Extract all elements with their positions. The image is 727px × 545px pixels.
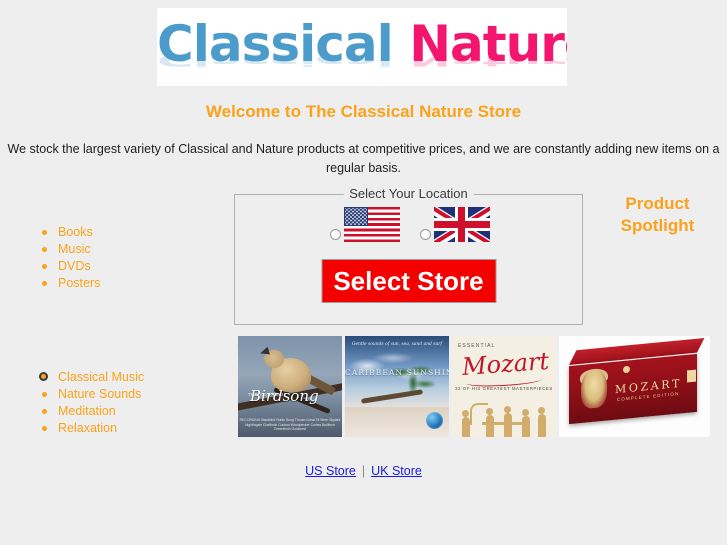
sidebar-item-label: Meditation xyxy=(58,404,116,418)
figure-head-silhouette xyxy=(486,408,493,415)
sidebar-item-label: Books xyxy=(58,225,93,239)
sidebar-genre-list: Classical Music Nature Sounds Meditation… xyxy=(36,369,211,437)
essential-mozart-caption: 32 OF HIS GREATEST MASTERPIECES xyxy=(452,386,556,391)
us-store-link[interactable]: US Store xyxy=(305,464,356,478)
select-location-fieldset: Select Your Location Select Store xyxy=(234,194,583,325)
site-logo-banner: Classical Nature Classical Nature xyxy=(157,8,567,86)
sidebar-item-relaxation[interactable]: Relaxation xyxy=(36,420,211,437)
sidebar-item-label: Music xyxy=(58,242,91,256)
bullet-icon xyxy=(42,230,47,235)
product-spotlight-strip: THE SOUND OF Birdsong RECORDING Blackbir… xyxy=(238,336,710,437)
caribbean-sub-title: Gentle sounds of sun, sea, sand and surf xyxy=(345,342,449,348)
logo-word-nature: Nature xyxy=(409,15,567,73)
figure-silhouette xyxy=(522,416,530,437)
sidebar-item-dvds[interactable]: DVDs xyxy=(36,258,211,275)
sidebar-item-label: DVDs xyxy=(58,259,91,273)
us-flag-canton xyxy=(344,207,368,226)
logo-word-classical: Classical xyxy=(157,15,393,73)
footer-separator: | xyxy=(356,464,371,478)
sidebar-item-books[interactable]: Books xyxy=(36,224,211,241)
bullet-icon xyxy=(42,409,47,414)
sidebar-item-label: Classical Music xyxy=(58,370,144,384)
figure-silhouette xyxy=(538,414,546,437)
figure-silhouette xyxy=(504,413,512,437)
uk-flag-icon[interactable] xyxy=(434,207,490,242)
bullet-icon xyxy=(42,247,47,252)
page-title: Welcome to The Classical Nature Store xyxy=(0,102,727,122)
us-flag-icon[interactable] xyxy=(344,207,400,242)
sidebar-item-posters[interactable]: Posters xyxy=(36,275,211,292)
product-thumbnail-essential-mozart[interactable]: ESSENTIAL Mozart 32 OF HIS GREATEST MAST… xyxy=(452,336,556,437)
sidebar-item-nature-sounds[interactable]: Nature Sounds xyxy=(36,386,211,403)
radio-us[interactable] xyxy=(330,229,341,240)
radio-uk[interactable] xyxy=(420,229,431,240)
footer-store-links: US Store|UK Store xyxy=(0,464,727,478)
sidebar-item-classical-music[interactable]: Classical Music xyxy=(36,369,211,386)
birdsong-title: Birdsong xyxy=(250,387,319,405)
caribbean-title: CARIBBEAN SUNSHINE xyxy=(345,368,449,377)
caribbean-label-logo-icon xyxy=(426,412,443,429)
figure-silhouette xyxy=(486,415,494,437)
logo-space xyxy=(393,15,409,73)
bullet-icon xyxy=(42,264,47,269)
location-option-uk[interactable] xyxy=(420,207,490,242)
sidebar-item-music[interactable]: Music xyxy=(36,241,211,258)
sidebar-item-meditation[interactable]: Meditation xyxy=(36,403,211,420)
select-store-button[interactable]: Select Store xyxy=(321,259,496,303)
figure-silhouette xyxy=(462,417,470,437)
spotlight-title-line-2: Spotlight xyxy=(590,215,725,237)
bullet-icon xyxy=(42,281,47,286)
figure-head-silhouette xyxy=(504,406,511,413)
product-thumbnail-birdsong[interactable]: THE SOUND OF Birdsong RECORDING Blackbir… xyxy=(238,336,342,437)
figure-head-silhouette xyxy=(462,410,469,417)
sidebar-item-label: Nature Sounds xyxy=(58,387,141,401)
mozart-portrait xyxy=(581,369,607,410)
intro-paragraph: We stock the largest variety of Classica… xyxy=(6,140,721,178)
product-thumbnail-caribbean[interactable]: Gentle sounds of sun, sea, sand and surf… xyxy=(345,336,449,437)
uk-flag-cross-red-h xyxy=(434,221,490,228)
product-thumbnail-mozart-box-set[interactable]: MOZART COMPLETE EDITION xyxy=(559,336,710,437)
bullet-icon xyxy=(42,392,47,397)
spotlight-title-line-1: Product xyxy=(590,193,725,215)
figure-head-silhouette xyxy=(522,409,529,416)
bullet-icon xyxy=(41,374,46,379)
essential-mozart-pre-title: ESSENTIAL xyxy=(458,343,495,349)
select-location-legend: Select Your Location xyxy=(343,186,474,201)
figure-head-silhouette xyxy=(538,407,545,414)
sidebar-item-label: Posters xyxy=(58,276,100,290)
sidebar-category-list: Books Music DVDs Posters xyxy=(36,224,211,292)
location-option-us[interactable] xyxy=(330,207,400,242)
flag-radio-row xyxy=(235,207,584,242)
uk-store-link[interactable]: UK Store xyxy=(371,464,422,478)
essential-mozart-silhouettes xyxy=(452,399,556,437)
sidebar-item-label: Relaxation xyxy=(58,421,117,435)
mozart-box-seal-side xyxy=(687,370,696,383)
birdsong-credits: RECORDING Blackbird Robin Song Thrush Gr… xyxy=(238,418,342,432)
product-spotlight-title: Product Spotlight xyxy=(590,193,725,237)
bullet-icon xyxy=(42,426,47,431)
logo-wordmark: Classical Nature xyxy=(157,16,567,72)
